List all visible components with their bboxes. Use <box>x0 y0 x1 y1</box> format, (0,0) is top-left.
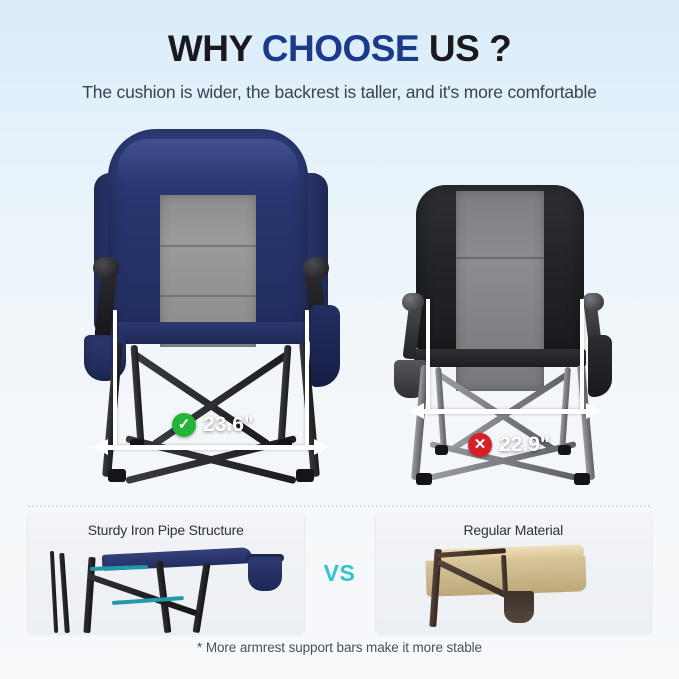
footer-note: * More armrest support bars make it more… <box>0 640 679 655</box>
left-chair-foot-left <box>108 469 126 482</box>
right-chair-foot-inner-right <box>558 445 571 455</box>
title-part-1: WHY <box>168 28 262 69</box>
illustration-cup-holder-tan <box>504 591 534 623</box>
comparison-stage: 5.9" ✓ 23 <box>0 117 679 507</box>
right-chair-foot-left <box>416 473 432 485</box>
panel-right-label: Regular Material <box>376 513 652 538</box>
illustration-cup-holder-navy <box>248 557 282 591</box>
right-chair-foot-right <box>574 473 590 485</box>
illustration-leg-5 <box>193 563 211 633</box>
vs-label: VS <box>324 560 356 587</box>
section-divider <box>28 505 651 507</box>
left-chair-armrest-cap-left <box>93 257 119 279</box>
check-circle-icon: ✓ <box>172 413 196 437</box>
right-chair-width-badge: ✕ 22.9" <box>468 433 550 457</box>
panel-regular-material[interactable]: Regular Material <box>376 513 652 633</box>
left-panel-illustration <box>28 543 304 633</box>
bottom-comparison: Sturdy Iron Pipe Structure VS Regular Ma… <box>28 513 651 633</box>
page-subtitle: The cushion is wider, the backrest is ta… <box>0 82 679 103</box>
x-circle-icon: ✕ <box>468 433 492 457</box>
left-chair-width-badge: ✓ 23.6" <box>172 413 254 437</box>
right-panel-illustration <box>376 543 652 633</box>
left-chair-side-pocket <box>310 305 340 387</box>
right-chair-side-pocket <box>588 335 612 397</box>
right-chair-seat <box>414 349 586 367</box>
illustration-brace-1 <box>87 573 198 616</box>
vs-divider: VS <box>304 513 376 633</box>
page-title: WHY CHOOSE US ? <box>0 30 679 69</box>
panel-left-label: Sturdy Iron Pipe Structure <box>28 513 304 538</box>
right-chair-armrest-cap-right <box>582 293 604 311</box>
panel-sturdy-iron-pipe[interactable]: Sturdy Iron Pipe Structure <box>28 513 304 633</box>
left-chair-seat <box>106 322 310 344</box>
header: WHY CHOOSE US ? The cushion is wider, th… <box>0 0 679 103</box>
illustration-leg-3 <box>50 551 58 633</box>
title-part-2: US ? <box>419 28 511 69</box>
left-chair-armrest-cap-right <box>303 257 329 279</box>
right-chair-armrest-cap-left <box>402 293 424 311</box>
title-highlight: CHOOSE <box>262 28 419 69</box>
left-chair-foot-right <box>296 469 314 482</box>
right-chair-width-value: 22.9" <box>499 433 550 457</box>
illustration-leg-2 <box>59 553 70 633</box>
illustration-support-bar-upper <box>90 565 148 571</box>
left-chair-width-value: 23.6" <box>203 413 254 437</box>
right-chair-foot-inner-left <box>435 445 448 455</box>
